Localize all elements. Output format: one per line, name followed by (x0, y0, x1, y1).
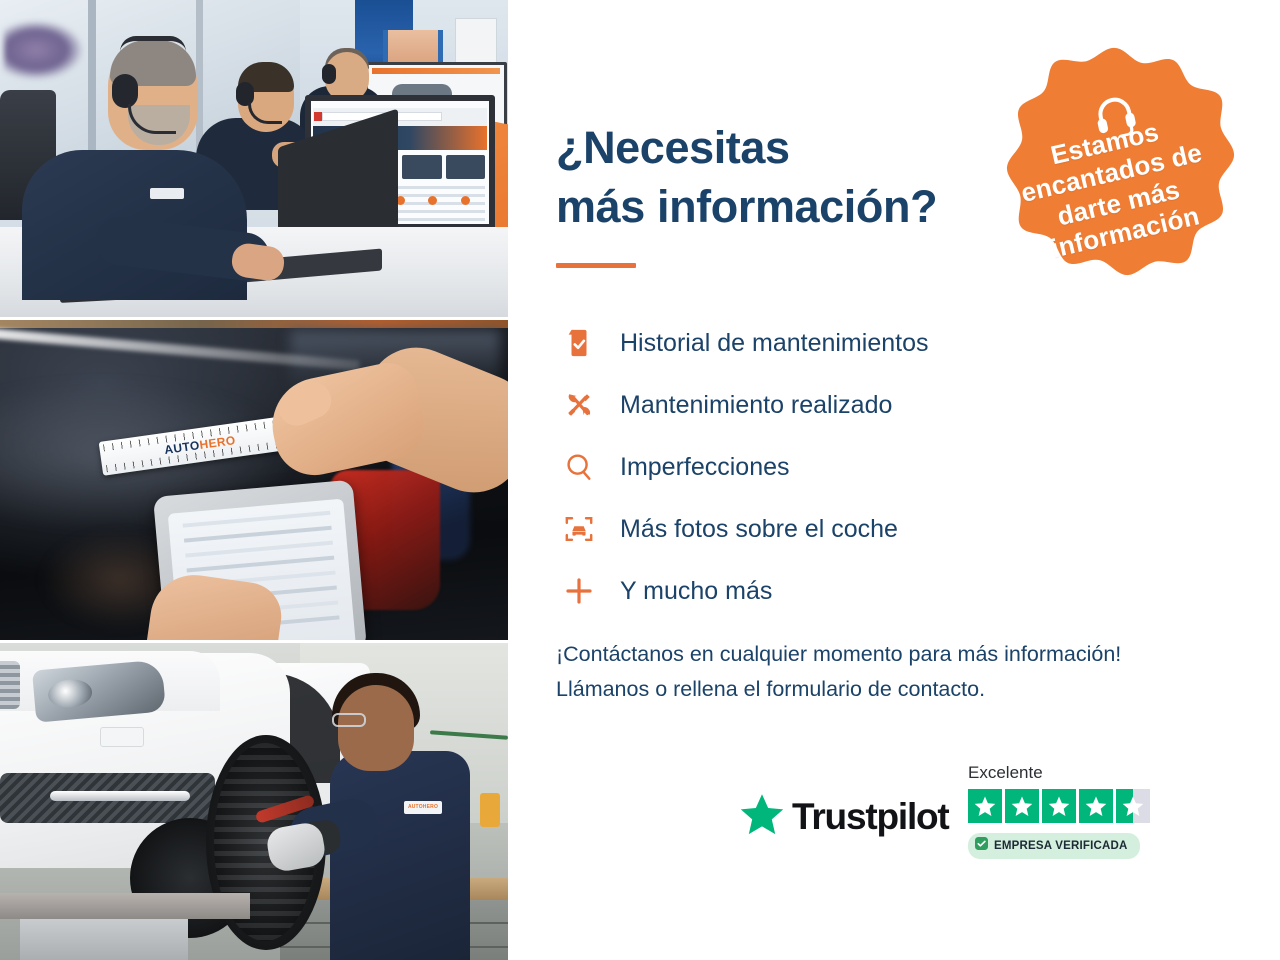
contact-line-2: Llámanos o rellena el formulario de cont… (556, 672, 1236, 707)
page-title: ¿Necesitas más información? (556, 118, 996, 237)
trustpilot-rating-label: Excelente (968, 763, 1158, 783)
photo3-lift-platform (0, 893, 250, 919)
verified-business-badge: EMPRESA VERIFICADA (968, 833, 1140, 859)
star-filled-2 (1005, 789, 1039, 823)
contact-line-1: ¡Contáctanos en cualquier momento para m… (556, 637, 1236, 672)
photo1-background-monitor-bar (372, 68, 500, 74)
info-banner: AUTOHERO (0, 0, 1280, 960)
photo1-agent-1-headset (112, 74, 138, 108)
star-half-5 (1116, 789, 1150, 823)
trustpilot-stars (968, 789, 1158, 823)
star-filled-4 (1079, 789, 1113, 823)
photo1-agent-3-headset (322, 64, 336, 84)
trustpilot-logo[interactable]: Trustpilot (740, 793, 949, 840)
star-filled-1 (968, 789, 1002, 823)
vehicle-inspection-photo: AUTOHERO (0, 320, 508, 640)
feature-item-maintenance-done: Mantenimiento realizado (556, 374, 1076, 436)
title-divider (556, 263, 636, 268)
feature-label: Más fotos sobre el coche (620, 515, 898, 544)
photo3-technician-body (330, 751, 470, 960)
feature-label: Imperfecciones (620, 453, 790, 482)
contact-paragraph: ¡Contáctanos en cualquier momento para m… (556, 637, 1236, 707)
photo3-chrome-trim (50, 791, 190, 801)
feature-item-maintenance-history: Historial de mantenimientos (556, 312, 1076, 374)
promo-badge: Estamos encantados de darte más informac… (986, 44, 1244, 302)
workshop-technician-photo: AUTOHERO (0, 643, 508, 960)
car-focus-frame-icon (556, 514, 602, 544)
photo3-license-plate-area (100, 727, 144, 747)
feature-item-more-photos: Más fotos sobre el coche (556, 498, 1076, 560)
photo1-agent-1-headband (120, 36, 186, 52)
verified-label: EMPRESA VERIFICADA (994, 840, 1128, 852)
content-panel: Estamos encantados de darte más informac… (508, 0, 1280, 960)
headline-block: ¿Necesitas más información? (556, 118, 996, 237)
trustpilot-star-icon (740, 793, 784, 840)
photo3-technician-glasses (332, 713, 366, 727)
photo3-car-grille (0, 661, 20, 709)
trustpilot-rating-block: Excelente (968, 763, 1158, 859)
photo3-technician-logo-badge: AUTOHERO (404, 801, 442, 814)
photo1-browser-dot (314, 112, 322, 121)
photo3-lift-post (20, 919, 188, 960)
photo3-technician-head (338, 685, 414, 771)
photo-strip: AUTOHERO (0, 0, 508, 960)
feature-item-imperfections: Imperfecciones (556, 436, 1076, 498)
document-check-icon (556, 328, 602, 358)
photo1-outdoor-foliage (4, 20, 84, 80)
tools-wrench-screwdriver-icon (556, 390, 602, 420)
headline-line-1: ¿Necesitas (556, 122, 790, 173)
feature-label: Historial de mantenimientos (620, 329, 928, 358)
feature-label: Y mucho más (620, 577, 772, 606)
photo3-yellow-container (480, 793, 500, 827)
photo1-agent-1-logo-badge (150, 188, 184, 199)
check-badge-icon (975, 837, 988, 855)
plus-icon (556, 575, 602, 607)
magnifier-icon (556, 452, 602, 482)
photo2-top-strip (0, 320, 508, 328)
headline-line-2: más información? (556, 181, 937, 232)
feature-list: Historial de mantenimientos M (556, 312, 1076, 622)
feature-item-much-more: Y mucho más (556, 560, 1076, 622)
call-center-agents-photo (0, 0, 508, 317)
feature-label: Mantenimiento realizado (620, 391, 892, 420)
trustpilot-widget[interactable]: Trustpilot Excelente (740, 763, 1160, 888)
star-filled-3 (1042, 789, 1076, 823)
trustpilot-wordmark: Trustpilot (792, 796, 949, 838)
